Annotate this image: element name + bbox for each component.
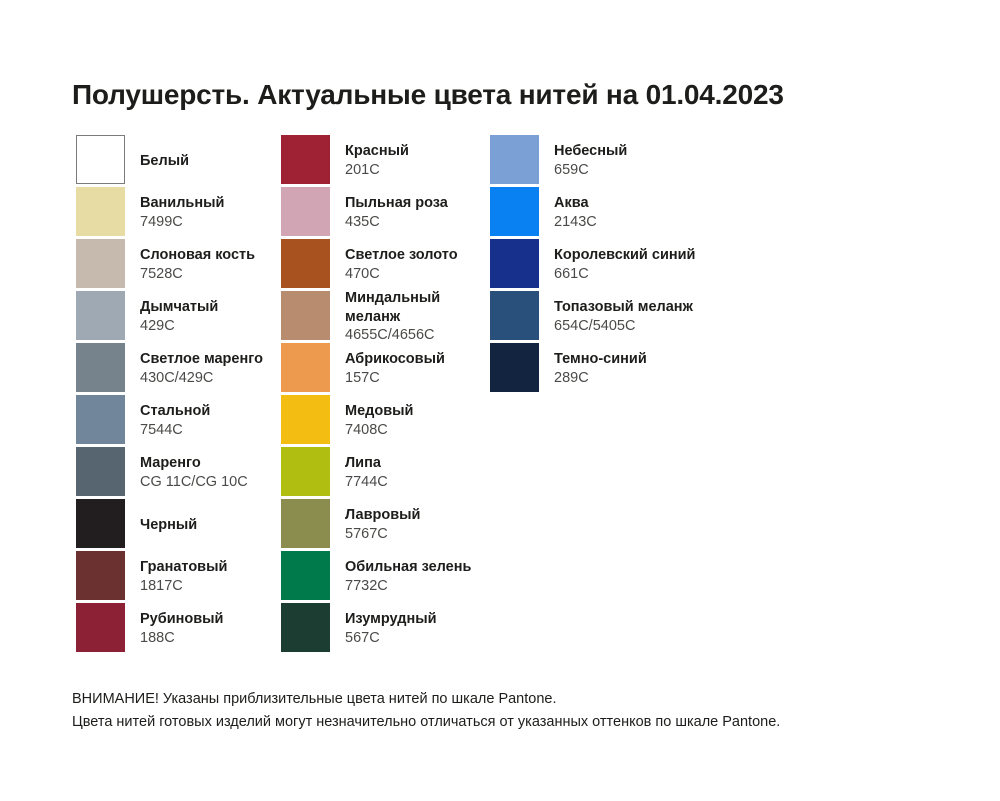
color-swatch[interactable] [76, 395, 125, 444]
color-entry[interactable]: Королевский синий661C [490, 239, 720, 291]
color-entry[interactable]: Лавровый5767C [281, 499, 486, 551]
color-entry[interactable]: МаренгоCG 11C/CG 10C [76, 447, 276, 499]
color-entry[interactable]: Дымчатый429C [76, 291, 276, 343]
color-labels: Изумрудный567C [345, 603, 525, 655]
color-swatch[interactable] [281, 291, 330, 340]
color-swatch[interactable] [76, 291, 125, 340]
column-warms: Красный201CПыльная роза435CСветлое золот… [281, 135, 486, 655]
color-swatch[interactable] [490, 135, 539, 184]
pantone-code: 5767C [345, 525, 525, 544]
pantone-code: 2143C [554, 213, 754, 232]
color-entry[interactable]: Рубиновый188C [76, 603, 276, 655]
pantone-code: 7408C [345, 421, 525, 440]
color-entry[interactable]: Светлое золото470C [281, 239, 486, 291]
color-swatch[interactable] [76, 447, 125, 496]
color-entry[interactable]: Слоновая кость7528C [76, 239, 276, 291]
color-swatch[interactable] [76, 187, 125, 236]
color-name: Небесный [554, 142, 754, 161]
color-swatch[interactable] [76, 343, 125, 392]
color-swatch[interactable] [76, 135, 125, 184]
color-entry[interactable]: Топазовый меланж654C/5405C [490, 291, 720, 343]
color-entry[interactable]: Изумрудный567C [281, 603, 486, 655]
color-labels: Липа7744C [345, 447, 525, 499]
color-name: Изумрудный [345, 610, 525, 629]
color-swatch[interactable] [281, 499, 330, 548]
color-name: Аква [554, 194, 754, 213]
pantone-code: 661C [554, 265, 754, 284]
color-swatch[interactable] [281, 187, 330, 236]
color-labels: Небесный659C [554, 135, 754, 187]
pantone-code: 7744C [345, 473, 525, 492]
pantone-code: 659C [554, 161, 754, 180]
color-entry[interactable]: Небесный659C [490, 135, 720, 187]
color-swatch[interactable] [490, 291, 539, 340]
color-swatch[interactable] [76, 499, 125, 548]
color-entry[interactable]: Пыльная роза435C [281, 187, 486, 239]
color-entry[interactable]: Темно-синий289C [490, 343, 720, 395]
color-entry[interactable]: Стальной7544C [76, 395, 276, 447]
color-entry[interactable]: Ванильный7499C [76, 187, 276, 239]
color-swatch[interactable] [76, 603, 125, 652]
color-name: Лавровый [345, 506, 525, 525]
disclaimer-note: ВНИМАНИЕ! Указаны приблизительные цвета … [72, 688, 952, 735]
color-swatch[interactable] [490, 343, 539, 392]
color-entry[interactable]: Липа7744C [281, 447, 486, 499]
color-swatch[interactable] [490, 187, 539, 236]
color-name: Липа [345, 454, 525, 473]
color-labels: Королевский синий661C [554, 239, 754, 291]
color-entry[interactable]: Аква2143C [490, 187, 720, 239]
disclaimer-line-1: ВНИМАНИЕ! Указаны приблизительные цвета … [72, 688, 952, 711]
color-name: Темно-синий [554, 350, 754, 369]
color-entry[interactable]: Белый [76, 135, 276, 187]
color-card-page: Полушерсть. Актуальные цвета нитей на 01… [0, 0, 1000, 801]
color-entry[interactable]: Медовый7408C [281, 395, 486, 447]
pantone-code: 567C [345, 629, 525, 648]
color-swatch[interactable] [76, 551, 125, 600]
color-entry[interactable]: Миндальный меланж4655C/4656C [281, 291, 486, 343]
color-swatch[interactable] [281, 239, 330, 288]
color-entry[interactable]: Красный201C [281, 135, 486, 187]
color-entry[interactable]: Гранатовый1817C [76, 551, 276, 603]
color-entry[interactable]: Обильная зелень7732C [281, 551, 486, 603]
pantone-code: 289C [554, 369, 754, 388]
color-swatch[interactable] [281, 447, 330, 496]
color-name: Медовый [345, 402, 525, 421]
color-swatch[interactable] [281, 343, 330, 392]
color-swatch[interactable] [281, 603, 330, 652]
color-swatch[interactable] [76, 239, 125, 288]
color-entry[interactable]: Светлое маренго430C/429C [76, 343, 276, 395]
pantone-code: 654C/5405C [554, 317, 754, 336]
color-name: Королевский синий [554, 246, 754, 265]
color-entry[interactable]: Абрикосовый157C [281, 343, 486, 395]
column-blues: Небесный659CАква2143CКоролевский синий66… [490, 135, 720, 395]
color-labels: Лавровый5767C [345, 499, 525, 551]
color-labels: Топазовый меланж654C/5405C [554, 291, 754, 343]
column-neutrals: БелыйВанильный7499CСлоновая кость7528CДы… [76, 135, 276, 655]
color-labels: Медовый7408C [345, 395, 525, 447]
color-entry[interactable]: Черный [76, 499, 276, 551]
disclaimer-line-2: Цвета нитей готовых изделий могут незнач… [72, 711, 952, 734]
color-labels: Темно-синий289C [554, 343, 754, 395]
color-swatch[interactable] [281, 551, 330, 600]
color-swatch[interactable] [490, 239, 539, 288]
color-labels: Аква2143C [554, 187, 754, 239]
color-swatch[interactable] [281, 135, 330, 184]
color-name: Обильная зелень [345, 558, 525, 577]
color-palette-grid: БелыйВанильный7499CСлоновая кость7528CДы… [0, 0, 1000, 801]
color-labels: Обильная зелень7732C [345, 551, 525, 603]
color-name: Топазовый меланж [554, 298, 754, 317]
pantone-code: 7732C [345, 577, 525, 596]
color-swatch[interactable] [281, 395, 330, 444]
